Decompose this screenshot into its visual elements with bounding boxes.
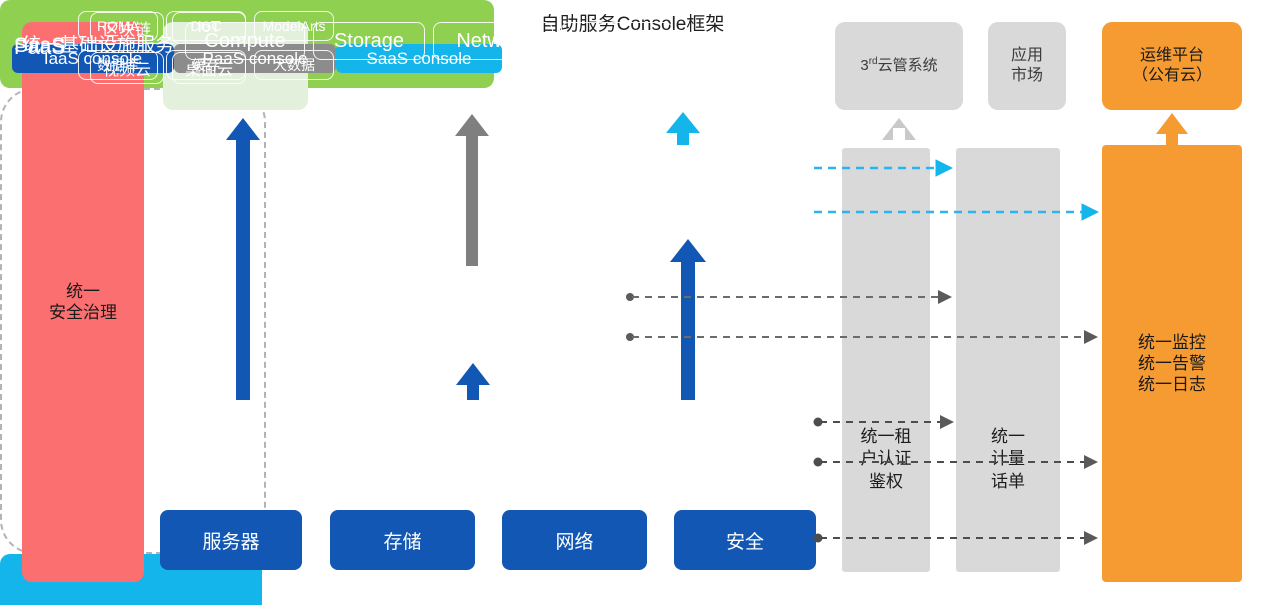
dot-infra-row2 bbox=[814, 458, 823, 467]
architecture-diagram: 统一 安全治理 API网关 自助服务Console框架 IaaS console… bbox=[0, 0, 1265, 605]
ops-monitoring-panel: 统一监控 统一告警 统一日志 bbox=[1102, 145, 1242, 582]
ops-platform-box: 运维平台 （公有云） bbox=[1102, 22, 1242, 110]
arrow-paas-to-console bbox=[455, 114, 489, 266]
app-market-box: 应用 市场 bbox=[988, 22, 1066, 110]
infra-chip-storage[interactable]: Storage bbox=[313, 22, 425, 60]
dot-paas-row2 bbox=[626, 333, 634, 341]
arrow-shared-to-third-party bbox=[882, 118, 1165, 140]
app-market-line1: 应用 bbox=[1011, 46, 1043, 66]
auth-column-line1: 统一租 bbox=[842, 426, 930, 448]
security-governance-panel: 统一 安全治理 bbox=[22, 22, 144, 582]
ops-body-line3: 统一日志 bbox=[1138, 374, 1206, 395]
third-party-cloud-mgmt-box: 3rd云管系统 bbox=[835, 22, 963, 110]
arrow-saas-to-console bbox=[666, 112, 700, 145]
infra-chip-network[interactable]: Network bbox=[433, 22, 553, 60]
arrow-ops-body-to-ops-platform bbox=[1156, 113, 1188, 145]
ops-platform-line1: 运维平台 bbox=[1132, 46, 1212, 66]
infra-chip-cce[interactable]: CCE bbox=[561, 22, 673, 60]
dot-infra-row1 bbox=[814, 418, 823, 427]
infrastructure-label: 统一基础设施服务 bbox=[22, 30, 174, 57]
hardware-box-server[interactable]: 服务器 bbox=[160, 510, 302, 570]
app-market-line2: 市场 bbox=[1011, 66, 1043, 86]
auth-column-line2: 户认证 bbox=[842, 448, 930, 470]
arrow-infra-to-saas bbox=[670, 239, 706, 400]
arrow-infra-to-paas bbox=[456, 363, 490, 400]
metering-column-line3: 话单 bbox=[956, 471, 1060, 493]
metering-column-line1: 统一 bbox=[956, 426, 1060, 448]
ops-body-line1: 统一监控 bbox=[1138, 332, 1206, 353]
unified-tenant-auth-column: 统一租 户认证 鉴权 bbox=[842, 148, 930, 572]
third-party-superscript: rd bbox=[869, 56, 878, 67]
unified-metering-column: 统一 计量 话单 bbox=[956, 148, 1060, 572]
metering-column-line2: 计量 bbox=[956, 448, 1060, 470]
auth-column-line3: 鉴权 bbox=[842, 471, 930, 493]
hardware-box-security[interactable]: 安全 bbox=[674, 510, 816, 570]
ops-platform-line2: （公有云） bbox=[1132, 66, 1212, 86]
infra-chip-compute[interactable]: Compute bbox=[185, 22, 305, 60]
hardware-box-storage[interactable]: 存储 bbox=[330, 510, 475, 570]
third-party-label: 3rd云管系统 bbox=[860, 56, 937, 76]
dot-paas-row1 bbox=[626, 293, 634, 301]
ops-body-line2: 统一告警 bbox=[1138, 353, 1206, 374]
hardware-box-network[interactable]: 网络 bbox=[502, 510, 647, 570]
security-panel-line2: 安全治理 bbox=[49, 302, 117, 323]
security-panel-line1: 统一 bbox=[49, 281, 117, 302]
